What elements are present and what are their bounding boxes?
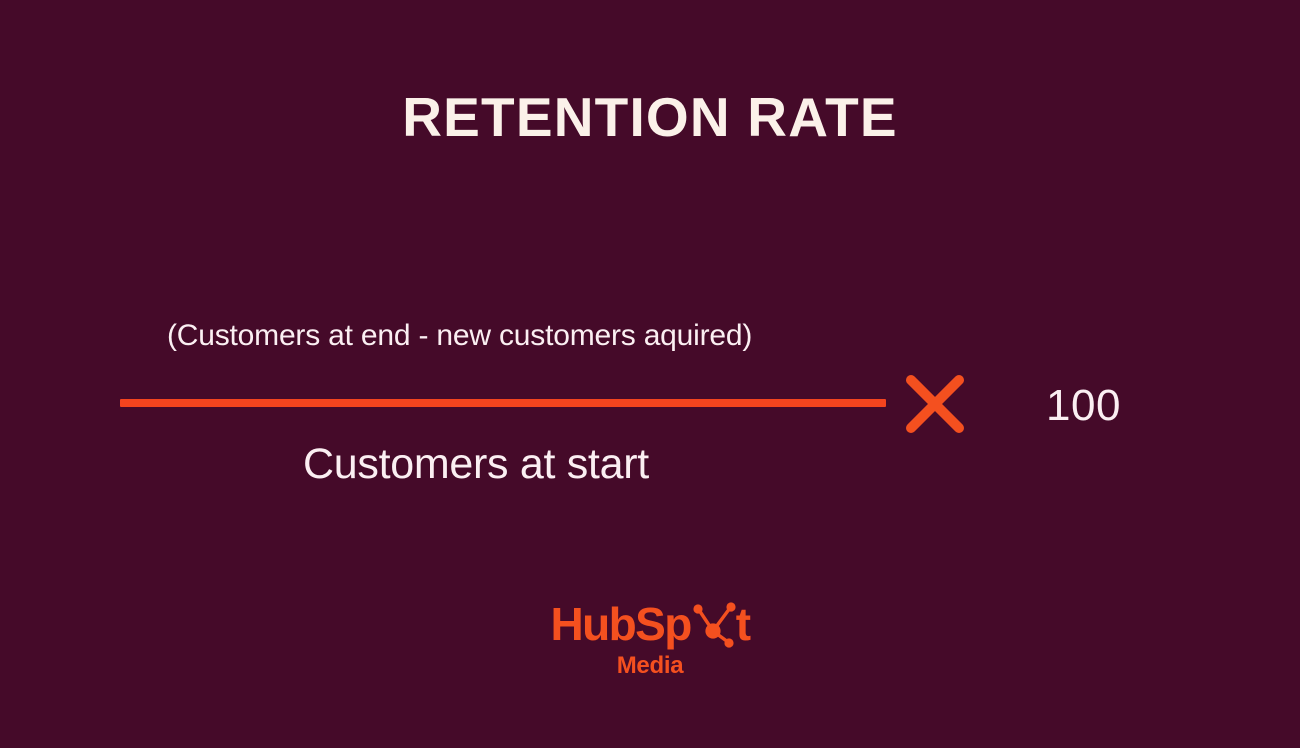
formula-denominator: Customers at start bbox=[303, 438, 649, 490]
page-title: RETENTION RATE bbox=[0, 86, 1300, 148]
retention-rate-formula: (Customers at end - new customers aquire… bbox=[0, 300, 1300, 510]
logo-subtitle: Media bbox=[0, 652, 1300, 680]
formula-numerator: (Customers at end - new customers aquire… bbox=[167, 316, 752, 356]
logo-word-part-1: HubSp bbox=[551, 600, 691, 648]
logo-wordmark: HubSp t bbox=[551, 600, 750, 648]
logo-word-part-2: t bbox=[736, 600, 750, 648]
fraction-bar bbox=[120, 399, 886, 407]
retention-rate-slide: RETENTION RATE (Customers at end - new c… bbox=[0, 0, 1300, 748]
hubspot-sprocket-icon bbox=[688, 601, 738, 649]
formula-multiplier: 100 bbox=[1046, 380, 1121, 432]
hubspot-media-logo: HubSp t Media bbox=[0, 600, 1300, 680]
multiply-x-icon bbox=[903, 372, 967, 436]
